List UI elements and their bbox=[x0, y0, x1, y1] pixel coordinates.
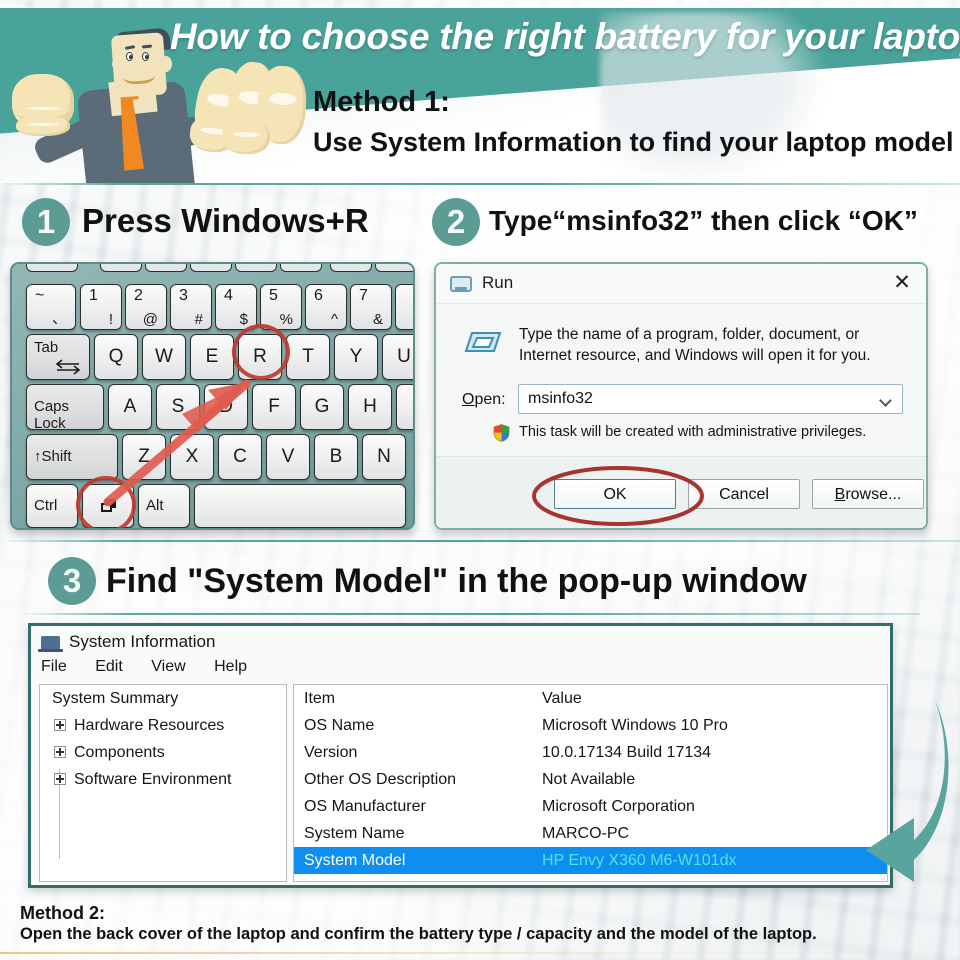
system-information-window: System Information File Edit View Help S… bbox=[28, 623, 893, 888]
run-uac-text: This task will be created with administr… bbox=[519, 424, 866, 440]
key-w[interactable]: W bbox=[142, 334, 186, 380]
key-6-top: 6 bbox=[314, 287, 323, 305]
header-banner: How to choose the right battery for your… bbox=[0, 0, 960, 183]
key-e[interactable]: E bbox=[190, 334, 234, 380]
step-badge-1: 1 bbox=[22, 198, 70, 246]
run-dialog-footer: OK Cancel Browse... bbox=[436, 456, 926, 528]
details-table[interactable]: Item Value OS Name Microsoft Windows 10 … bbox=[293, 684, 888, 882]
key-y-label: Y bbox=[335, 335, 377, 379]
run-dialog-titlebar: Run ✕ bbox=[436, 264, 926, 304]
key-c-label: C bbox=[219, 435, 261, 479]
key-3[interactable]: 3 # bbox=[170, 284, 212, 330]
method1-text: Use System Information to find your lapt… bbox=[313, 127, 954, 158]
expand-icon[interactable] bbox=[54, 746, 66, 758]
key-3-top: 3 bbox=[179, 287, 188, 305]
menu-item-help[interactable]: Help bbox=[214, 658, 247, 675]
key-z[interactable]: Z bbox=[122, 434, 166, 480]
key-y[interactable]: Y bbox=[334, 334, 378, 380]
key-s-label: S bbox=[157, 385, 199, 429]
tree-item-label: Hardware Resources bbox=[74, 717, 224, 734]
key-4[interactable]: 4 $ bbox=[215, 284, 257, 330]
key-t[interactable]: T bbox=[286, 334, 330, 380]
key-1-bottom: ! bbox=[109, 311, 113, 328]
uac-shield-icon bbox=[493, 424, 510, 442]
key-d-label: D bbox=[205, 385, 247, 429]
run-dialog: Run ✕ Type the name of a program, folder… bbox=[434, 262, 928, 530]
method2-text: Open the back cover of the laptop and co… bbox=[20, 925, 817, 944]
key-f[interactable]: F bbox=[252, 384, 296, 430]
key-alt[interactable]: Alt bbox=[138, 484, 190, 528]
key-u[interactable]: U bbox=[382, 334, 415, 380]
key-2-bottom: @ bbox=[143, 311, 158, 328]
key-5-bottom: % bbox=[280, 311, 293, 328]
key-ctrl-label: Ctrl bbox=[34, 497, 57, 514]
keyboard-image: ~ 、 1 ! 2 @ 3 # 4 $ 5 % bbox=[10, 262, 415, 530]
annotation-circle-menu-key bbox=[76, 476, 136, 530]
key-u-label: U bbox=[383, 335, 415, 379]
key-f-label: F bbox=[253, 385, 295, 429]
row-item: System Model bbox=[304, 847, 405, 874]
key-b[interactable]: B bbox=[314, 434, 358, 480]
table-row[interactable]: System Name MARCO-PC bbox=[294, 820, 887, 847]
row-value: MARCO-PC bbox=[542, 820, 629, 847]
column-header-value: Value bbox=[542, 685, 582, 712]
key-v-label: V bbox=[267, 435, 309, 479]
key-n[interactable]: N bbox=[362, 434, 406, 480]
key-tab-label: Tab bbox=[34, 339, 58, 356]
infographic-page: How to choose the right battery for your… bbox=[0, 0, 960, 960]
tree-item-hardware-resources[interactable]: Hardware Resources bbox=[40, 712, 286, 739]
row-value: 10.0.17134 Build 17134 bbox=[542, 739, 711, 766]
key-d[interactable]: D bbox=[204, 384, 248, 430]
table-row[interactable]: Version 10.0.17134 Build 17134 bbox=[294, 739, 887, 766]
key-3-bottom: # bbox=[195, 311, 203, 328]
divider-bottom bbox=[0, 952, 960, 954]
system-information-icon bbox=[41, 636, 60, 650]
key-caps-lock[interactable]: Caps Lock bbox=[26, 384, 104, 430]
run-open-label-rest: pen: bbox=[474, 391, 505, 408]
annotation-circle-r-key bbox=[232, 324, 290, 380]
key-7[interactable]: 7 & bbox=[350, 284, 392, 330]
row-value: Microsoft Windows 10 Pro bbox=[542, 712, 728, 739]
key-5-top: 5 bbox=[269, 287, 278, 305]
key-tilde-top: ~ bbox=[35, 287, 44, 305]
key-7-bottom: & bbox=[373, 311, 383, 328]
run-open-label: Open: bbox=[462, 391, 506, 409]
table-row[interactable]: OS Manufacturer Microsoft Corporation bbox=[294, 793, 887, 820]
menu-item-file[interactable]: File bbox=[41, 658, 67, 675]
key-s[interactable]: S bbox=[156, 384, 200, 430]
key-q-label: Q bbox=[95, 335, 137, 379]
key-w-label: W bbox=[143, 335, 185, 379]
key-e-label: E bbox=[191, 335, 233, 379]
key-x-label: X bbox=[171, 435, 213, 479]
key-tilde[interactable]: ~ 、 bbox=[26, 284, 76, 330]
row-item: Version bbox=[304, 739, 357, 766]
tree-item-label: System Summary bbox=[52, 690, 178, 707]
key-c[interactable]: C bbox=[218, 434, 262, 480]
key-alt-label: Alt bbox=[146, 497, 164, 514]
method1-label: Method 1: bbox=[313, 86, 450, 119]
run-open-value: msinfo32 bbox=[528, 390, 593, 408]
tree-item-system-summary[interactable]: System Summary bbox=[40, 685, 286, 712]
table-row[interactable]: Other OS Description Not Available bbox=[294, 766, 887, 793]
key-6[interactable]: 6 ^ bbox=[305, 284, 347, 330]
key-v[interactable]: V bbox=[266, 434, 310, 480]
key-space[interactable] bbox=[194, 484, 406, 528]
key-tilde-bottom: 、 bbox=[52, 307, 67, 328]
key-2[interactable]: 2 @ bbox=[125, 284, 167, 330]
expand-icon[interactable] bbox=[54, 773, 66, 785]
annotation-circle-ok-button bbox=[530, 465, 706, 527]
key-ctrl[interactable]: Ctrl bbox=[26, 484, 78, 528]
key-shift-label: ↑Shift bbox=[34, 448, 72, 465]
navigation-tree[interactable]: System Summary Hardware Resources Compon… bbox=[39, 684, 287, 882]
key-h[interactable]: H bbox=[348, 384, 392, 430]
row-value: HP Envy X360 M6-W101dx bbox=[542, 847, 736, 874]
menu-item-edit[interactable]: Edit bbox=[95, 658, 123, 675]
key-1[interactable]: 1 ! bbox=[80, 284, 122, 330]
divider-step3 bbox=[20, 613, 920, 615]
key-2-top: 2 bbox=[134, 287, 143, 305]
step-title-3: Find "System Model" in the pop-up window bbox=[106, 562, 807, 601]
table-row-system-model-selected[interactable]: System Model HP Envy X360 M6-W101dx bbox=[294, 847, 887, 874]
key-g[interactable]: G bbox=[300, 384, 344, 430]
tab-arrows-icon bbox=[53, 359, 83, 375]
key-8-partial[interactable] bbox=[395, 284, 415, 330]
menu-bar: File Edit View Help bbox=[41, 658, 271, 676]
row-item: Other OS Description bbox=[304, 766, 456, 793]
key-caps-lock-label: Caps Lock bbox=[34, 398, 103, 432]
browse-button-rest: rowse... bbox=[845, 486, 901, 503]
row-item: OS Manufacturer bbox=[304, 793, 426, 820]
step-badge-2: 2 bbox=[432, 198, 480, 246]
expand-icon[interactable] bbox=[54, 719, 66, 731]
tree-item-label: Software Environment bbox=[74, 771, 231, 788]
key-q[interactable]: Q bbox=[94, 334, 138, 380]
browse-button[interactable]: Browse... bbox=[812, 479, 924, 509]
key-j-partial[interactable] bbox=[396, 384, 415, 430]
key-7-top: 7 bbox=[359, 287, 368, 305]
run-dialog-description: Type the name of a program, folder, docu… bbox=[519, 324, 909, 367]
row-item: OS Name bbox=[304, 712, 374, 739]
key-z-label: Z bbox=[123, 435, 165, 479]
tree-item-components[interactable]: Components bbox=[40, 739, 286, 766]
key-1-top: 1 bbox=[89, 287, 98, 305]
step-title-1: Press Windows+R bbox=[82, 202, 369, 240]
run-open-input[interactable]: msinfo32 bbox=[518, 384, 903, 414]
page-title: How to choose the right battery for your… bbox=[170, 16, 960, 58]
key-h-label: H bbox=[349, 385, 391, 429]
table-header-row: Item Value bbox=[294, 685, 887, 712]
key-tab[interactable]: Tab bbox=[26, 334, 90, 380]
divider-middle bbox=[0, 540, 960, 542]
key-a[interactable]: A bbox=[108, 384, 152, 430]
close-icon[interactable]: ✕ bbox=[888, 270, 916, 296]
row-item: System Name bbox=[304, 820, 404, 847]
curved-teal-arrow-icon bbox=[840, 690, 955, 890]
key-5[interactable]: 5 % bbox=[260, 284, 302, 330]
key-4-bottom: $ bbox=[240, 311, 248, 328]
tree-item-label: Components bbox=[74, 744, 165, 761]
chevron-down-icon[interactable] bbox=[879, 394, 892, 407]
key-4-top: 4 bbox=[224, 287, 233, 305]
run-dialog-title: Run bbox=[482, 273, 513, 293]
table-row[interactable]: OS Name Microsoft Windows 10 Pro bbox=[294, 712, 887, 739]
key-6-bottom: ^ bbox=[331, 311, 338, 328]
key-a-label: A bbox=[109, 385, 151, 429]
system-information-title: System Information bbox=[69, 632, 215, 652]
run-window-icon bbox=[450, 276, 472, 292]
row-value: Not Available bbox=[542, 766, 635, 793]
method2-label: Method 2: bbox=[20, 903, 105, 924]
run-large-icon bbox=[462, 327, 504, 359]
row-value: Microsoft Corporation bbox=[542, 793, 695, 820]
key-n-label: N bbox=[363, 435, 405, 479]
key-t-label: T bbox=[287, 335, 329, 379]
step-badge-3: 3 bbox=[48, 557, 96, 605]
step-title-2: Type“msinfo32” then click “OK” bbox=[489, 205, 918, 237]
key-b-label: B bbox=[315, 435, 357, 479]
tree-item-software-environment[interactable]: Software Environment bbox=[40, 766, 286, 793]
key-shift[interactable]: ↑Shift bbox=[26, 434, 118, 480]
column-header-item: Item bbox=[304, 685, 335, 712]
divider-top bbox=[0, 183, 960, 185]
menu-item-view[interactable]: View bbox=[151, 658, 185, 675]
key-g-label: G bbox=[301, 385, 343, 429]
key-x[interactable]: X bbox=[170, 434, 214, 480]
